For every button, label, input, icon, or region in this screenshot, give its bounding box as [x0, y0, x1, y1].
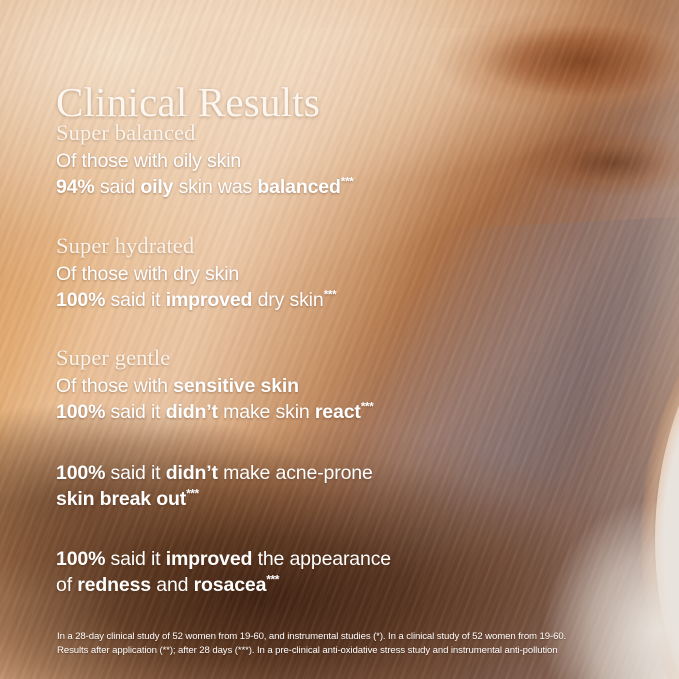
claim-context-plain: Of those with	[56, 375, 173, 397]
claim-line2-plain-a: of	[56, 574, 77, 596]
claim-stat-mid-2: the appearance	[252, 548, 391, 570]
claim-stat-bold-1: didn’t	[166, 401, 218, 423]
claim-stat-mid-2: skin was	[173, 176, 257, 198]
footnote-marker: ***	[361, 400, 374, 414]
claim-stat-bold-1: improved	[166, 548, 253, 570]
claim-statistic-line-1: 100% said it improved the appearance	[56, 546, 576, 572]
claim-stat-bold-1: didn’t	[166, 462, 218, 484]
claim-statistic-line-1: 100% said it didn’t make acne-prone	[56, 460, 576, 486]
claim-stat-bold-2: balanced	[257, 176, 340, 198]
claim-stat-bold-1: improved	[166, 289, 253, 311]
footnote-marker: ***	[324, 287, 337, 301]
claim-stat-bold-2: skin break out	[56, 488, 186, 510]
claim-stat-percent: 100%	[56, 548, 105, 570]
footnote-marker: ***	[186, 486, 199, 500]
claim-title: Super balanced	[56, 118, 576, 147]
claim-stat-percent: 100%	[56, 462, 105, 484]
claim-statistic-line-2: skin break out***	[56, 486, 576, 512]
claim-context: Of those with sensitive skin	[56, 373, 576, 399]
footnote-line-2: Results after application (**); after 28…	[57, 644, 637, 658]
claim-block-super-gentle: Super gentle Of those with sensitive ski…	[56, 343, 576, 426]
claim-stat-mid-1: said	[95, 176, 141, 198]
claim-stat-bold-1: oily	[140, 176, 173, 198]
claim-line2-bold-b: rosacea	[194, 574, 267, 596]
claims-list: Super balanced Of those with oily skin 9…	[56, 118, 576, 622]
claim-context: Of those with oily skin	[56, 148, 576, 174]
claim-statistic: 100% said it didn’t make skin react***	[56, 399, 576, 425]
claim-statistic: 100% said it improved dry skin***	[56, 287, 576, 313]
claim-stat-mid-2: make skin	[218, 401, 315, 423]
claim-stat-percent: 100%	[56, 401, 105, 423]
claim-stat-mid-2: make acne-prone	[218, 462, 373, 484]
footnote-marker: ***	[341, 175, 354, 189]
claim-context: Of those with dry skin	[56, 261, 576, 287]
claim-title: Super gentle	[56, 343, 576, 372]
claim-stat-mid-1: said it	[105, 462, 165, 484]
clinical-results-panel: Clinical Results Super balanced Of those…	[0, 0, 679, 679]
claim-stat-mid-1: said it	[105, 401, 165, 423]
claim-statistic: 94% said oily skin was balanced***	[56, 174, 576, 200]
footnote-marker: ***	[266, 572, 279, 586]
claim-block-redness-rosacea: 100% said it improved the appearance of …	[56, 546, 576, 598]
claim-stat-percent: 100%	[56, 289, 105, 311]
claim-block-super-hydrated: Super hydrated Of those with dry skin 10…	[56, 231, 576, 314]
claim-stat-mid-1: said it	[105, 548, 165, 570]
claim-statistic-line-2: of redness and rosacea***	[56, 572, 576, 598]
claim-title: Super hydrated	[56, 231, 576, 260]
claim-block-acne-prone: 100% said it didn’t make acne-prone skin…	[56, 460, 576, 512]
claim-context-text: Of those with dry skin	[56, 263, 239, 285]
claim-context-bold: sensitive skin	[173, 375, 299, 397]
claim-line2-bold-a: redness	[77, 574, 151, 596]
claim-context-text: Of those with oily skin	[56, 150, 241, 172]
claim-stat-percent: 94%	[56, 176, 95, 198]
footnote-disclaimer: In a 28-day clinical study of 52 women f…	[57, 630, 637, 658]
claim-stat-bold-2: react	[315, 401, 361, 423]
claim-block-super-balanced: Super balanced Of those with oily skin 9…	[56, 118, 576, 201]
claim-line2-plain-b: and	[151, 574, 194, 596]
footnote-line-1: In a 28-day clinical study of 52 women f…	[57, 630, 637, 644]
claim-stat-mid-1: said it	[105, 289, 165, 311]
claim-stat-mid-2: dry skin	[252, 289, 323, 311]
